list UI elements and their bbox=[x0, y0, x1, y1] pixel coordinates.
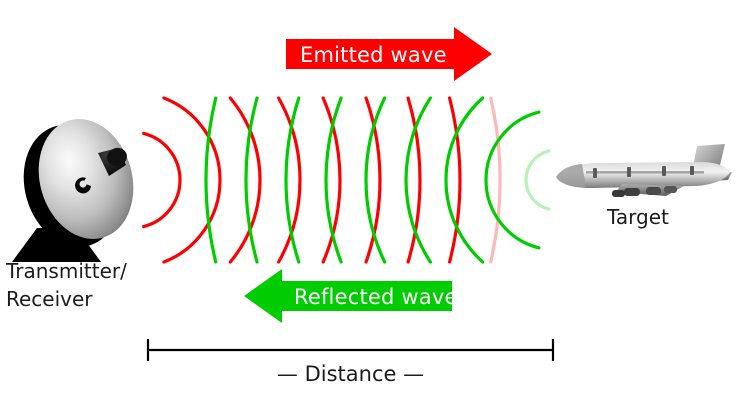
transmitter-receiver-caption: Transmitter/ Receiver bbox=[5, 259, 127, 311]
transmitter-label-line1: Transmitter/ bbox=[5, 259, 127, 283]
reflected-wave-label: Reflected wave bbox=[294, 285, 458, 309]
transmitter-label-line2: Receiver bbox=[6, 287, 93, 311]
radar-diagram: Emitted wave Reflected wave — Distance —… bbox=[0, 0, 750, 400]
distance-label: — Distance — bbox=[277, 362, 424, 386]
distance-bar: — Distance — bbox=[148, 339, 553, 386]
emitted-wave-label: Emitted wave bbox=[300, 43, 447, 67]
emitted-wave-arrow: Emitted wave bbox=[286, 27, 492, 81]
target-label: Target bbox=[606, 205, 669, 229]
reflected-wave-arrow: Reflected wave bbox=[244, 269, 458, 323]
annotations: Emitted wave Reflected wave — Distance —… bbox=[0, 0, 750, 400]
